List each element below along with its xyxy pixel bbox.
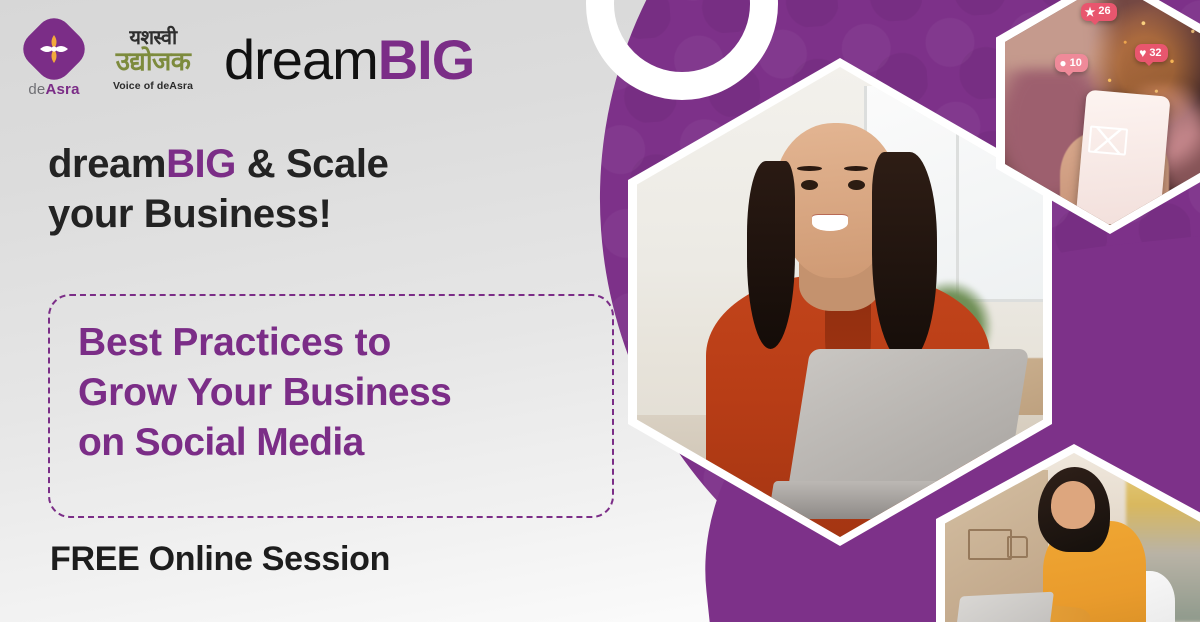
eyebrow-left [797, 166, 821, 171]
page-title: dreamBIG & Scale your Business! [48, 140, 568, 239]
deasra-logo[interactable]: deAsra [14, 22, 94, 98]
hair-right-strand [872, 152, 937, 364]
headline-line2: your Business! [48, 192, 331, 236]
truck-icon [968, 529, 1012, 560]
feature-line2-light: Grow Your [78, 371, 283, 414]
heart-icon: ♥ [1139, 47, 1146, 59]
yashaswi-udyojak-logo[interactable]: यशस्वी उद्योजक Voice of deAsra [100, 28, 206, 91]
feature-line1: Best Practices to [78, 321, 391, 364]
heart-notification-badge: ♥ 32 [1135, 44, 1167, 62]
feature-line3: on Social Media [78, 421, 364, 464]
deasra-diamond-mark-icon [16, 11, 92, 87]
headline-line1-pre: dream [48, 142, 166, 186]
headline-line1-post: & Scale [236, 142, 388, 186]
comment-notification-badge: ● 10 [1055, 54, 1088, 72]
dreambig-dream-text: dream [224, 28, 378, 91]
free-session-label: FREE Online Session [50, 540, 390, 579]
promotional-banner: ★ 26 ● 10 ♥ 32 [0, 0, 1200, 622]
logo-row: deAsra यशस्वी उद्योजक Voice of deAsra dr… [14, 22, 474, 98]
feature-callout-text: Best Practices to Grow Your Business on … [78, 318, 612, 468]
heart-count: 32 [1149, 48, 1161, 59]
deasra-glyph-icon [37, 32, 71, 66]
yashaswi-line1: यशस्वी [129, 28, 176, 48]
head [1051, 481, 1095, 529]
yashaswi-tagline: Voice of deAsra [113, 80, 193, 92]
yashaswi-line2: उद्योजक [116, 48, 191, 75]
dreambig-big-text: BIG [378, 28, 475, 91]
feature-line2-heavy: Business [283, 371, 452, 414]
deasra-wordmark: deAsra [28, 81, 79, 98]
headline-line1-big: BIG [166, 142, 236, 186]
star-count: 26 [1098, 6, 1110, 17]
envelope-icon [1088, 126, 1128, 156]
deasra-word-suffix: Asra [45, 81, 79, 98]
feature-callout-box: Best Practices to Grow Your Business on … [48, 294, 614, 518]
comment-count: 10 [1070, 58, 1082, 69]
smile [812, 215, 849, 231]
dreambig-logo[interactable]: dreamBIG [224, 32, 474, 88]
smartphone [1075, 90, 1170, 225]
star-icon: ★ [1085, 6, 1096, 18]
laptop-screen [949, 592, 1054, 622]
star-notification-badge: ★ 26 [1081, 3, 1117, 21]
eyebrow-right [844, 166, 868, 171]
comment-icon: ● [1059, 57, 1066, 69]
deasra-word-prefix: de [28, 81, 45, 98]
